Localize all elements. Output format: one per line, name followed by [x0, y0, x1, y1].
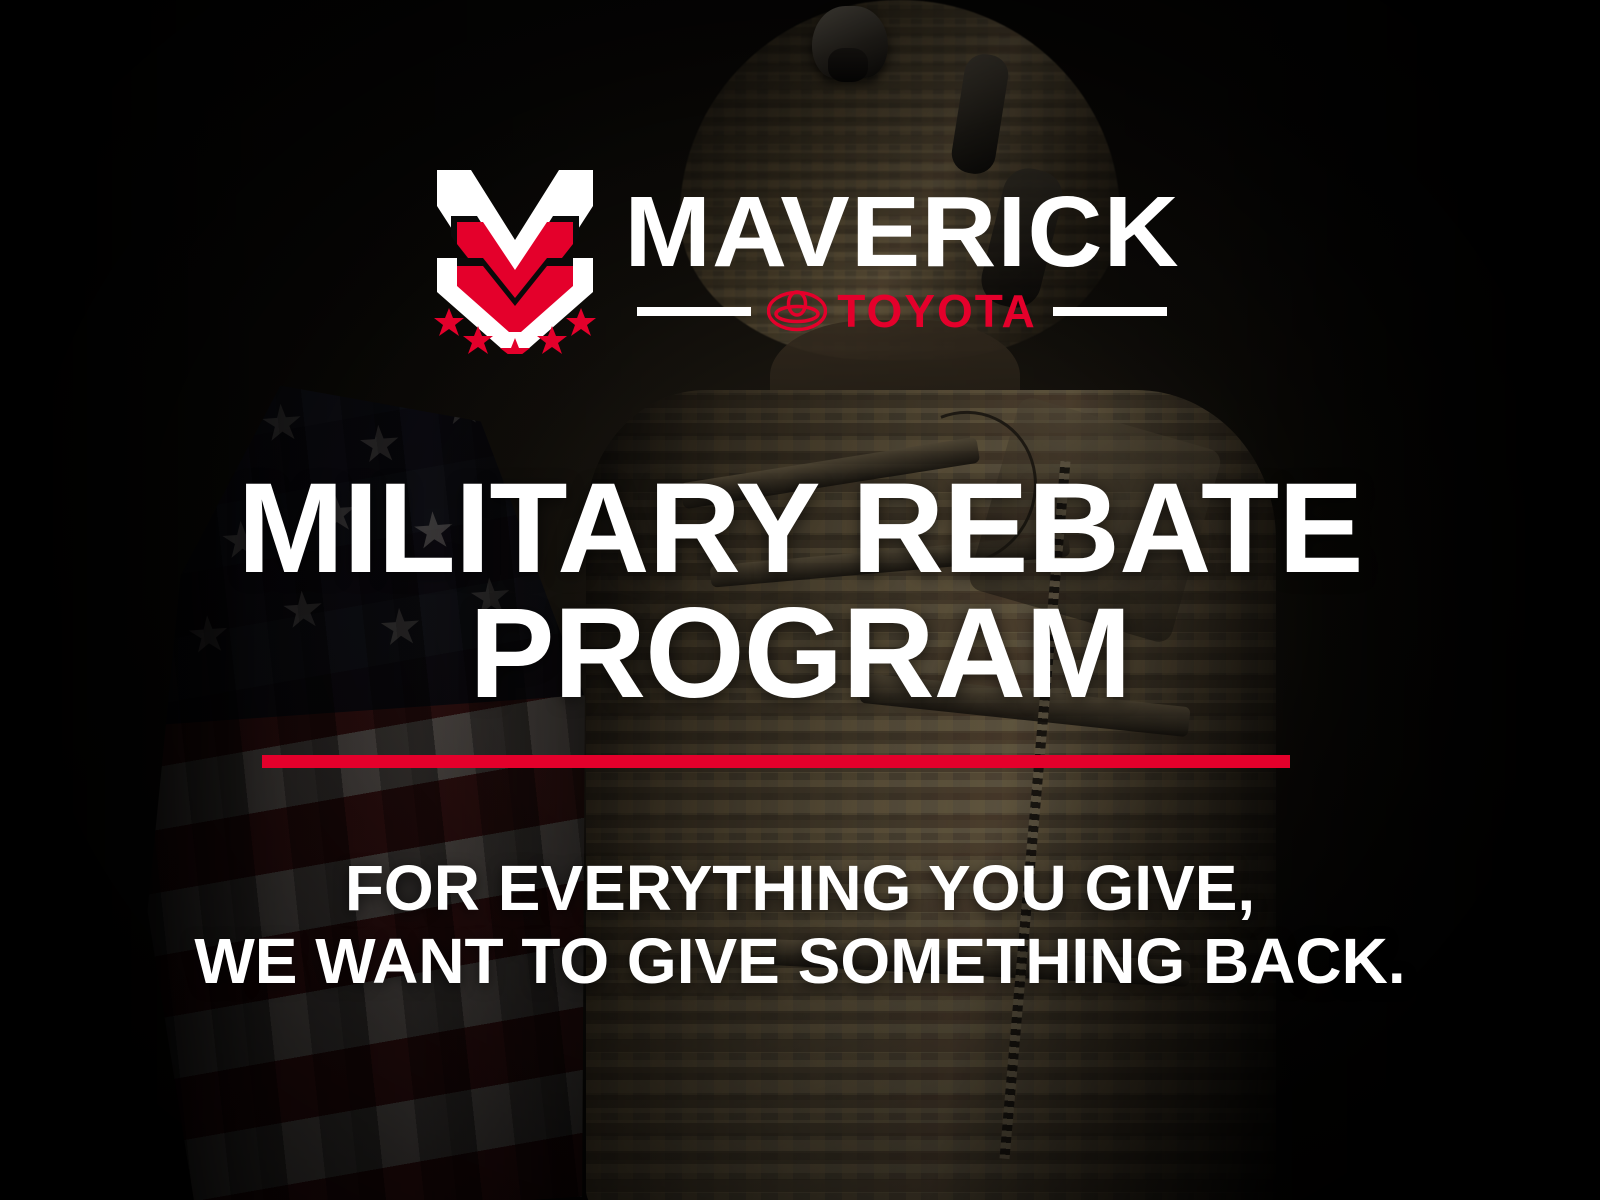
toyota-lockup-row: TOYOTA: [637, 288, 1166, 334]
military-rebate-promo-banner: MAVERICK TOYOTA MILITARY REB: [0, 0, 1600, 1200]
toyota-mark: TOYOTA: [767, 288, 1036, 334]
tagline-line-2: WE WANT TO GIVE SOMETHING BACK.: [0, 925, 1600, 998]
lockup-rule-left: [637, 307, 751, 316]
maverick-chevron-shield-emblem: [431, 166, 599, 354]
red-divider-rule: [262, 755, 1290, 768]
brand-wordmark: MAVERICK TOYOTA: [635, 186, 1169, 334]
lockup-rule-right: [1053, 307, 1167, 316]
brand-logo-lockup[interactable]: MAVERICK TOYOTA: [0, 166, 1600, 354]
dealer-name: MAVERICK: [624, 186, 1179, 278]
tagline: FOR EVERYTHING YOU GIVE, WE WANT TO GIVE…: [0, 852, 1600, 998]
page-title: MILITARY REBATE PROGRAM: [0, 466, 1600, 717]
toyota-ellipses-emblem: [767, 290, 827, 332]
make-name: TOYOTA: [837, 288, 1036, 334]
headline-line-1: MILITARY REBATE: [0, 466, 1600, 591]
headline-line-2: PROGRAM: [0, 591, 1600, 716]
banner-content: MAVERICK TOYOTA MILITARY REB: [0, 0, 1600, 1200]
tagline-line-1: FOR EVERYTHING YOU GIVE,: [0, 852, 1600, 925]
